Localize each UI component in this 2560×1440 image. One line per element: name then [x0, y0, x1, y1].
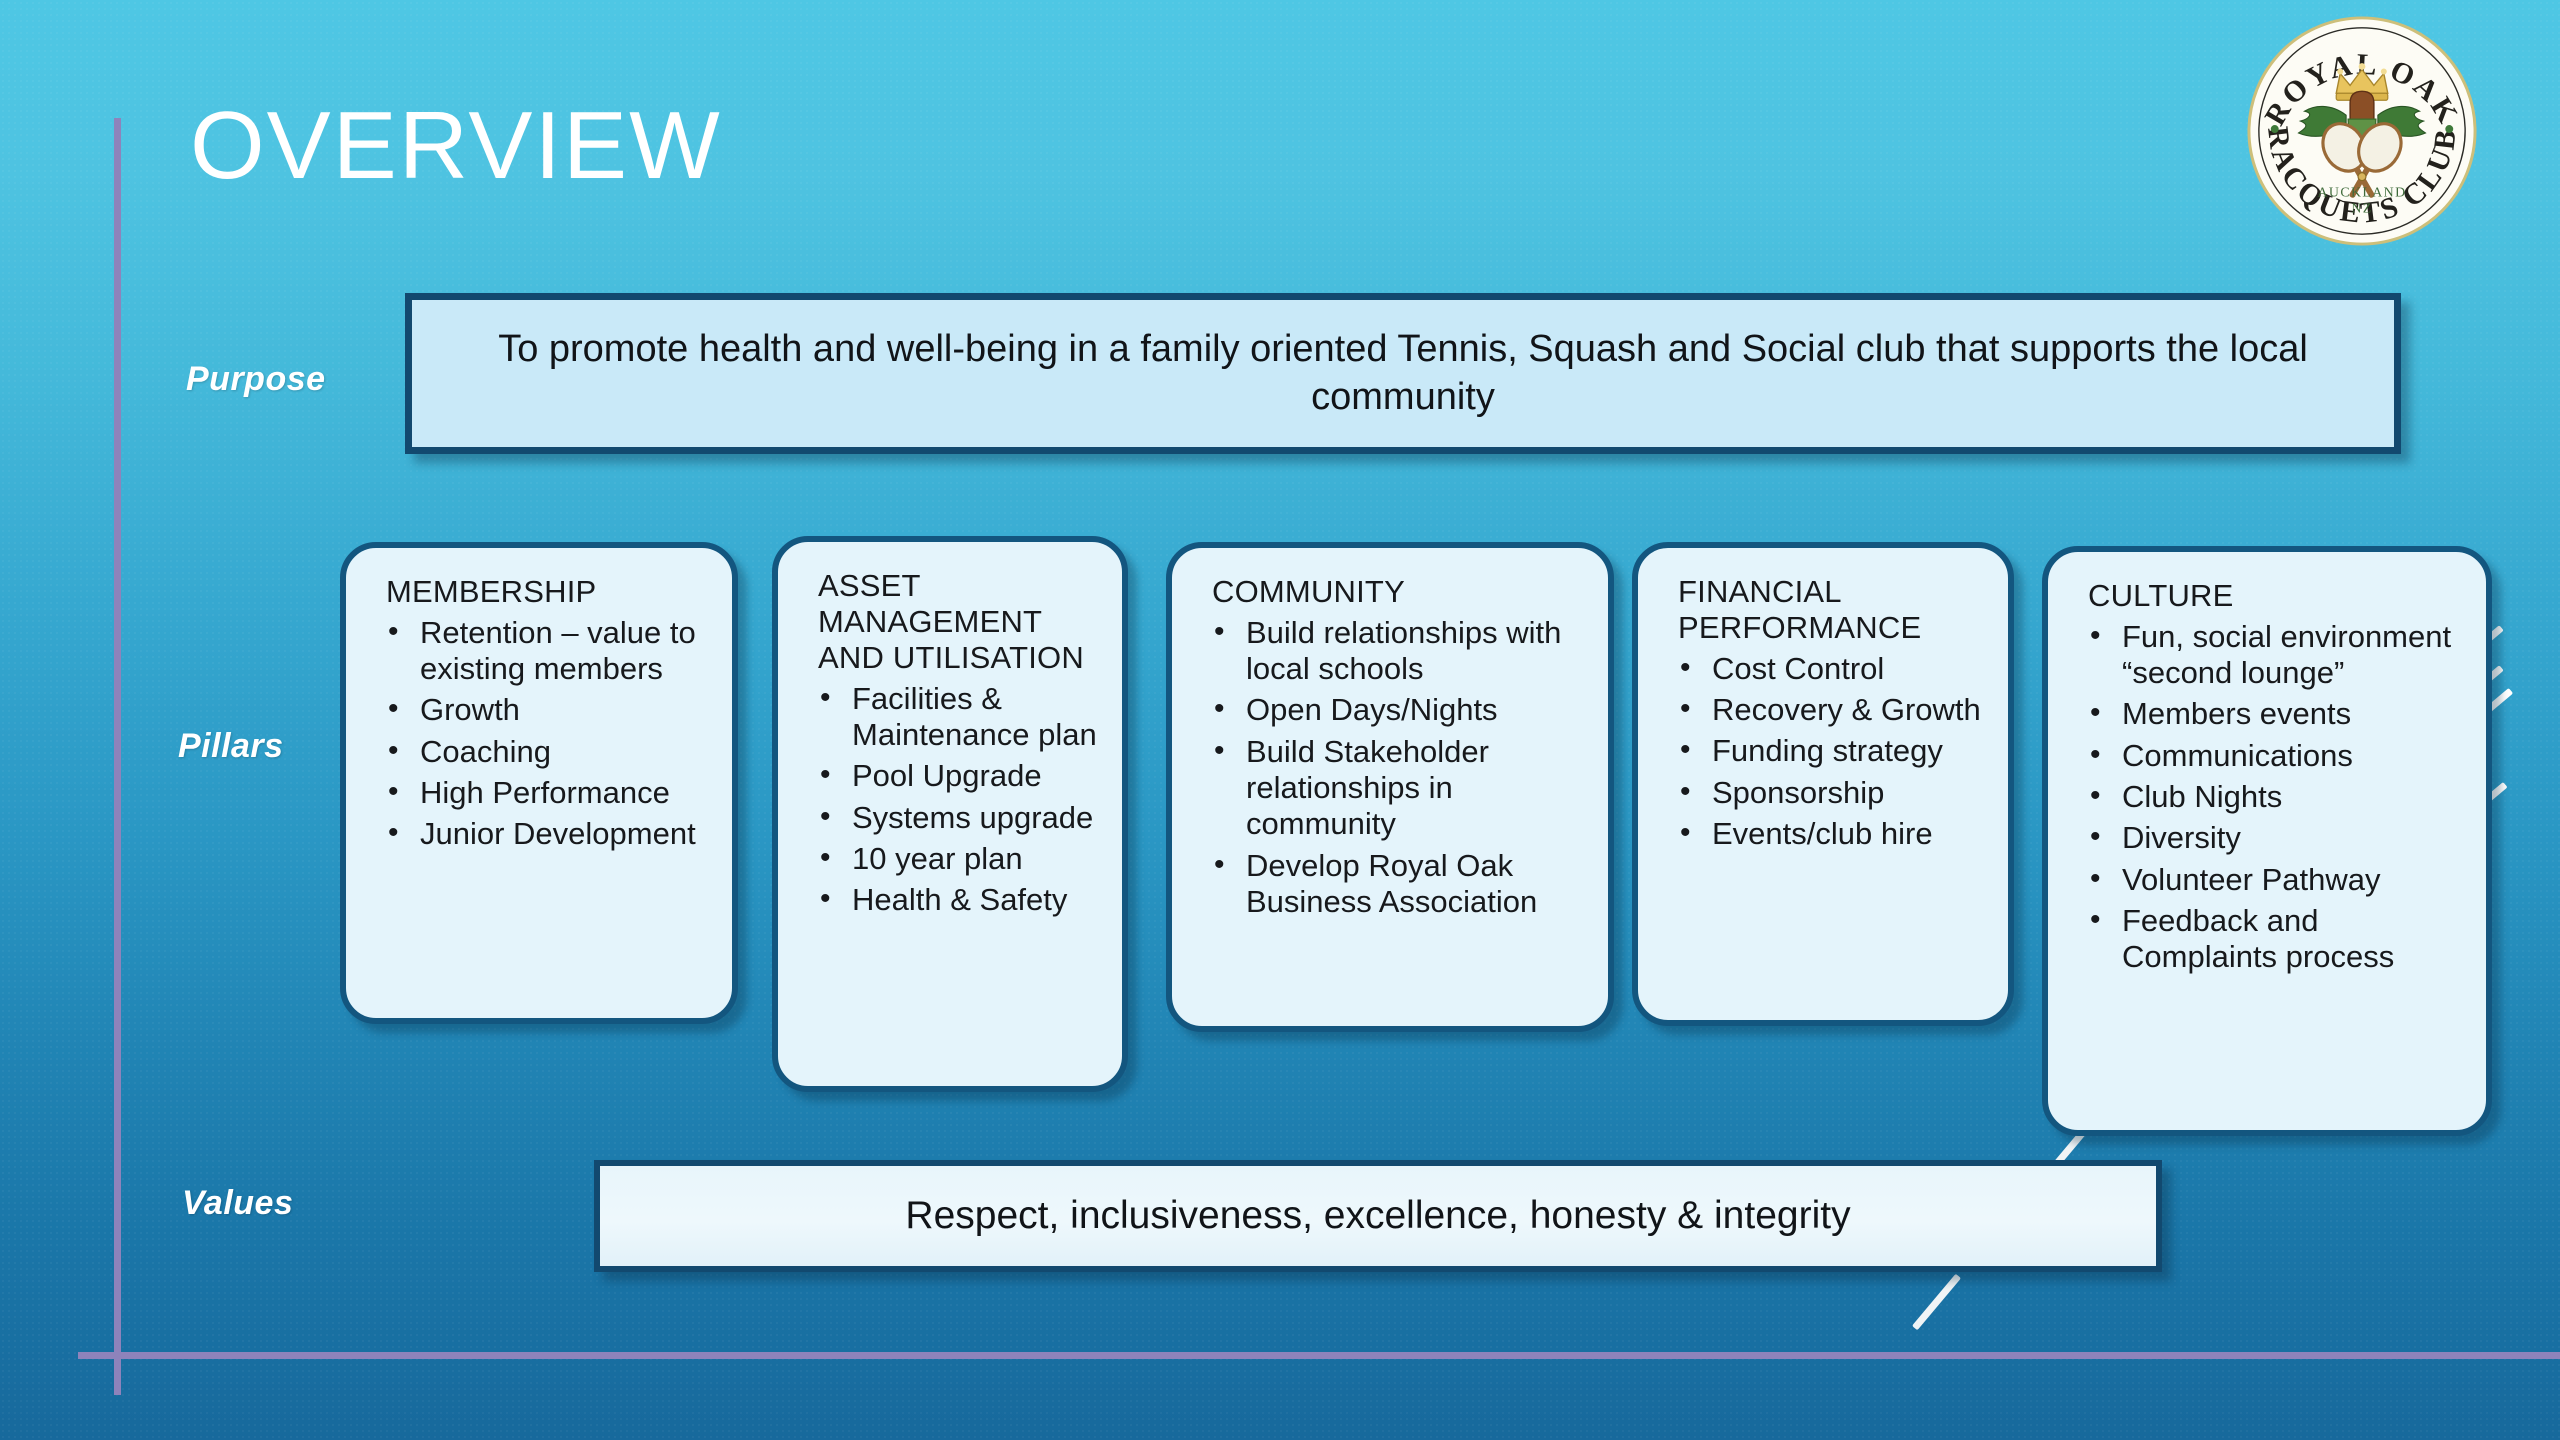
values-box: Respect, inclusiveness, excellence, hone…	[594, 1160, 2162, 1272]
page-title: OVERVIEW	[190, 98, 722, 194]
pillar-item-list: Fun, social environment “second lounge” …	[2070, 619, 2468, 975]
row-label-values: Values	[182, 1184, 293, 1223]
purpose-text: To promote health and well-being in a fa…	[412, 326, 2394, 422]
logo-dot-right	[2445, 125, 2453, 133]
pillar-card-community: COMMUNITY Build relationships with local…	[1166, 542, 1614, 1032]
pillar-heading: MEMBERSHIP	[386, 574, 714, 610]
accent-vertical-line	[114, 118, 121, 1395]
pillar-item: Funding strategy	[1672, 733, 1990, 769]
pillar-card-asset-management: ASSET MANAGEMENT AND UTILISATION Facilit…	[772, 536, 1128, 1092]
row-label-pillars: Pillars	[178, 727, 284, 766]
logo-svg: ROYAL OAK RACQUETS CLUB	[2243, 12, 2481, 250]
slide-canvas: OVERVIEW ROYAL OAK RACQUETS CLUB	[0, 0, 2560, 1440]
pillar-card-membership: MEMBERSHIP Retention – value to existing…	[340, 542, 738, 1024]
pillar-item: Fun, social environment “second lounge”	[2082, 619, 2468, 692]
pillar-heading: ASSET MANAGEMENT AND UTILISATION	[818, 568, 1104, 676]
pillar-item: Build Stakeholder relationships in commu…	[1206, 734, 1590, 843]
pillar-item: Club Nights	[2082, 779, 2468, 815]
logo-center-line-1: AUCKLAND	[2318, 185, 2407, 200]
pillar-card-financial-performance: FINANCIAL PERFORMANCE Cost Control Recov…	[1632, 542, 2014, 1026]
pillar-heading: COMMUNITY	[1212, 574, 1590, 610]
pillar-item: Sponsorship	[1672, 775, 1990, 811]
pillar-item-list: Facilities & Maintenance plan Pool Upgra…	[800, 681, 1104, 919]
pillar-item: Members events	[2082, 696, 2468, 732]
pillar-item: Pool Upgrade	[812, 758, 1104, 794]
pillar-item: Communications	[2082, 738, 2468, 774]
row-label-purpose: Purpose	[186, 360, 326, 399]
pillar-item: Develop Royal Oak Business Association	[1206, 848, 1590, 921]
club-logo: ROYAL OAK RACQUETS CLUB	[2243, 12, 2481, 250]
purpose-box: To promote health and well-being in a fa…	[405, 293, 2401, 454]
values-text: Respect, inclusiveness, excellence, hone…	[905, 1194, 1850, 1238]
pillar-item: Systems upgrade	[812, 800, 1104, 836]
pillar-item-list: Cost Control Recovery & Growth Funding s…	[1660, 651, 1990, 852]
logo-dot-left	[2271, 125, 2279, 133]
pillar-heading: CULTURE	[2088, 578, 2468, 614]
diagonal-accent-line	[1912, 1274, 1961, 1331]
logo-center-line-2: NZ	[2351, 201, 2372, 216]
pillar-item: Junior Development	[380, 816, 714, 852]
pillar-item: Recovery & Growth	[1672, 692, 1990, 728]
pillar-item: Events/club hire	[1672, 816, 1990, 852]
pillar-item: Cost Control	[1672, 651, 1990, 687]
pillar-item: Facilities & Maintenance plan	[812, 681, 1104, 754]
pillar-heading: FINANCIAL PERFORMANCE	[1678, 574, 1990, 646]
pillar-item: Open Days/Nights	[1206, 692, 1590, 728]
pillar-item: Retention – value to existing members	[380, 615, 714, 688]
pillar-card-culture: CULTURE Fun, social environment “second …	[2042, 546, 2492, 1136]
pillar-item: Growth	[380, 692, 714, 728]
pillar-item: 10 year plan	[812, 841, 1104, 877]
pillar-item: High Performance	[380, 775, 714, 811]
pillar-item: Feedback and Complaints process	[2082, 903, 2468, 976]
pillar-item-list: Retention – value to existing members Gr…	[368, 615, 714, 853]
accent-horizontal-line	[78, 1352, 2560, 1359]
pillar-item: Volunteer Pathway	[2082, 862, 2468, 898]
pillar-item: Health & Safety	[812, 882, 1104, 918]
pillar-item-list: Build relationships with local schools O…	[1194, 615, 1590, 920]
pillar-item: Build relationships with local schools	[1206, 615, 1590, 688]
pillar-item: Diversity	[2082, 820, 2468, 856]
pillar-item: Coaching	[380, 734, 714, 770]
